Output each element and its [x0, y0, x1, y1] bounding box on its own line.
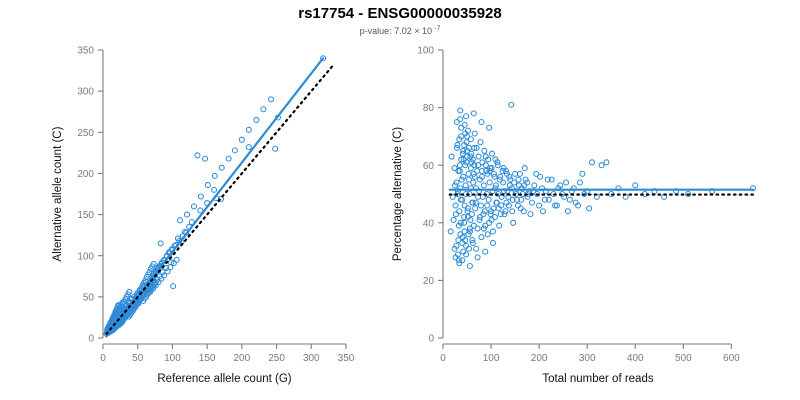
y-tick-label: 50	[83, 292, 95, 303]
pvalue-times: × 10	[414, 26, 432, 36]
x-axis-title: Reference allele count (G)	[157, 373, 291, 385]
x-tick-label: 50	[132, 353, 144, 364]
x-tick-label: 100	[483, 353, 500, 364]
y-tick-label: 200	[77, 169, 94, 180]
x-tick-label: 100	[164, 353, 181, 364]
pvalue-prefix: p-value: 7.02	[360, 26, 412, 36]
x-tick-label: 300	[303, 353, 320, 364]
allele-expression-figure: rs17754 - ENSG00000035928 p-value: 7.02 …	[0, 0, 800, 400]
y-tick-label: 0	[428, 334, 434, 345]
x-tick-label: 500	[675, 353, 692, 364]
x-tick-label: 300	[579, 353, 596, 364]
y-tick-label: 300	[77, 87, 94, 98]
x-tick-label: 0	[440, 353, 446, 364]
y-tick-label: 60	[423, 161, 435, 172]
pvalue-subtitle: p-value: 7.02 × 10 -7	[360, 25, 441, 36]
x-tick-label: 400	[627, 353, 644, 364]
y-tick-label: 250	[77, 128, 94, 139]
x-axis-title: Total number of reads	[542, 373, 653, 385]
x-tick-label: 150	[199, 353, 216, 364]
x-tick-label: 350	[338, 353, 355, 364]
x-tick-label: 250	[268, 353, 285, 364]
x-tick-label: 600	[723, 353, 740, 364]
pvalue-exponent: -7	[435, 25, 441, 32]
x-tick-label: 0	[100, 353, 106, 364]
y-axis-title: Percentage alternative (C)	[392, 127, 404, 261]
y-tick-label: 150	[77, 210, 94, 221]
y-tick-label: 100	[417, 46, 434, 57]
y-tick-label: 20	[423, 276, 435, 287]
y-tick-label: 80	[423, 103, 435, 114]
page-title: rs17754 - ENSG00000035928	[298, 5, 502, 22]
y-axis-title: Alternative allele count (C)	[52, 126, 64, 261]
y-tick-label: 0	[88, 334, 94, 345]
x-tick-label: 200	[531, 353, 548, 364]
x-tick-label: 200	[234, 353, 251, 364]
y-tick-label: 350	[77, 46, 94, 57]
y-tick-label: 100	[77, 251, 94, 262]
y-tick-label: 40	[423, 218, 435, 229]
